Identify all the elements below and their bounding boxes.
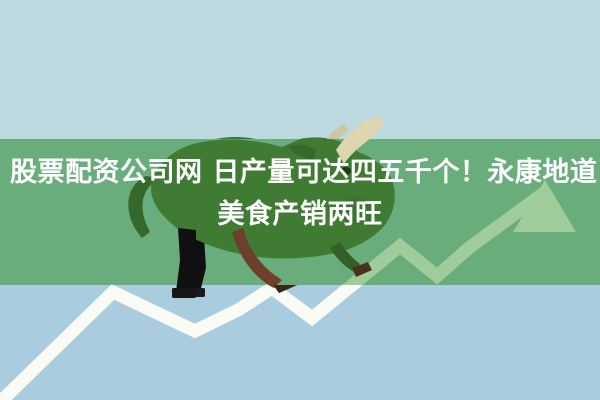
bull-hoof-rear-near-b [172, 288, 196, 298]
illustration-canvas [0, 0, 600, 400]
sky-band [0, 0, 600, 140]
article-header-image: 股票配资公司网 日产量可达四五千个！永康地道 美食产销两旺 [0, 0, 600, 400]
bull-eye-g [341, 167, 351, 175]
